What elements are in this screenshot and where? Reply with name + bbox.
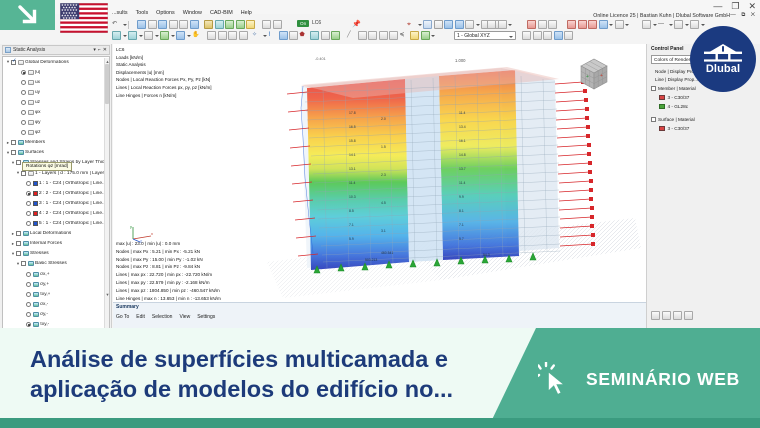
toolbar-row-1[interactable]: ↶ On (112, 19, 760, 30)
svg-text:8.5: 8.5 (349, 209, 354, 213)
layer-color-swatch (33, 201, 38, 206)
pin-icon[interactable]: 📌 (352, 20, 361, 29)
tree-row[interactable]: ▾Basic Stresses (3, 259, 109, 269)
scroll-up-arrow-icon[interactable]: ▲ (106, 59, 110, 64)
tree-row[interactable]: ▸Internal Forces (3, 239, 109, 249)
material-item-label: 3 - C30/37 (668, 126, 690, 131)
window-controls[interactable]: — ❐ ✕ (713, 1, 756, 11)
mesh-icon[interactable] (421, 31, 430, 40)
work-plane-yz-icon[interactable] (455, 20, 464, 29)
tree-row[interactable]: τxy,+ (3, 289, 109, 299)
status-menu-view[interactable]: View (179, 314, 190, 320)
new-line-icon[interactable]: ⌇ (268, 31, 277, 40)
result-values-icon[interactable] (236, 20, 245, 29)
menu-item-tools[interactable]: Tools (136, 10, 149, 16)
svg-text:2.3: 2.3 (381, 173, 386, 177)
webinar-banner: Análise de superfícies multicamada e apl… (0, 328, 760, 428)
tree-row[interactable]: ▸Members (3, 138, 109, 148)
results-on-off-icon[interactable] (215, 20, 224, 29)
tree-row[interactable]: |u| (3, 67, 109, 77)
work-plane-dropdown-icon[interactable] (476, 20, 480, 29)
sheet-icon (28, 130, 34, 135)
section-cut-icon[interactable] (615, 20, 624, 29)
rfem-application-window: — ❐ ✕ Online Licence 25 | Bastian Kuhn |… (0, 0, 760, 328)
legend-line: LC6 (116, 46, 212, 54)
result-table-icon[interactable] (246, 20, 255, 29)
tree-row[interactable]: σy,+ (3, 279, 109, 289)
member-material-item[interactable]: 4 - GL28c (659, 104, 688, 109)
doc-close-button[interactable]: ✕ (751, 12, 757, 18)
visibility-4-icon[interactable] (599, 20, 608, 29)
tree-row-label: Members (25, 140, 45, 145)
surf-icon (33, 312, 39, 317)
tree-row[interactable]: 5 : 1 - C24 | Orthotropic | Line... (3, 219, 109, 229)
tree-row-checkbox[interactable] (11, 60, 16, 65)
tree-row-label: Surfaces (25, 150, 44, 155)
load-case-next-icon[interactable] (273, 20, 282, 29)
summary-line: max |u| : 23.0 | min |u| : 0.0 mm (116, 240, 221, 248)
svg-text:14.1: 14.1 (349, 153, 356, 157)
surf-icon (18, 150, 24, 155)
visibility-dropdown-icon[interactable] (609, 20, 613, 29)
tree-row-checkbox[interactable] (16, 231, 21, 236)
svg-text:503.213: 503.213 (365, 258, 377, 262)
sheet-icon (28, 90, 34, 95)
navigator-close-button[interactable]: ✕ (103, 47, 107, 53)
surface-material-checkbox[interactable] (651, 117, 656, 122)
navigator-panel: Static Analysis ▾ ⌐ ✕ ▾Global Deformatio… (0, 44, 112, 328)
layer-color-swatch (33, 211, 38, 216)
tree-row-radio[interactable] (26, 201, 31, 206)
node-table-icon[interactable] (207, 31, 216, 40)
tree-rows-container: ▾Global Deformations|u|uxuyuzφxφyφz▸Memb… (3, 57, 109, 338)
view-orientation-cube[interactable]: + + (573, 54, 615, 94)
svg-text:1.5: 1.5 (381, 145, 386, 149)
tree-row-checkbox[interactable] (16, 241, 21, 246)
menu-item-window[interactable]: Window (183, 10, 202, 16)
surf-icon (33, 272, 39, 277)
tree-row-radio[interactable] (21, 90, 26, 95)
navigator-toggle-icon[interactable] (564, 31, 573, 40)
svg-text:-0.401: -0.401 (315, 57, 326, 61)
measure-icon[interactable] (487, 20, 496, 29)
new-load-icon[interactable] (331, 31, 340, 40)
layer-icon (28, 171, 34, 176)
tree-row-radio[interactable] (21, 110, 26, 115)
work-plane-settings-icon[interactable] (465, 20, 474, 29)
rotate-view-icon[interactable] (176, 31, 185, 40)
line-table-icon[interactable] (218, 31, 227, 40)
visibility-2-icon[interactable] (578, 20, 587, 29)
summary-line: Lines | max py : 22.579 | min py : -2.16… (116, 279, 221, 287)
delete-icon[interactable] (527, 20, 536, 29)
new-hinge-icon[interactable] (321, 31, 330, 40)
svg-text:17.8: 17.8 (349, 111, 356, 115)
select-dropdown-icon[interactable] (123, 31, 127, 40)
material-color-swatch (659, 104, 665, 109)
status-menu-goto[interactable]: Go To (116, 314, 129, 320)
undo-dropdown-icon[interactable] (123, 20, 127, 29)
line-display-properties-link[interactable]: Line | Display Prop... (655, 77, 698, 82)
banner-badge-text: SEMINÁRIO WEB (586, 369, 740, 390)
cp-filter-icon[interactable] (684, 311, 693, 320)
menubar[interactable]: ...sults Tools Options Window CAD-BIM He… (112, 8, 252, 18)
ortho-icon[interactable] (434, 20, 443, 29)
tree-row[interactable]: σx,- (3, 299, 109, 309)
undo-icon[interactable]: ↶ (112, 20, 121, 29)
surf-icon (33, 282, 39, 287)
svg-text:5.9: 5.9 (349, 237, 354, 241)
tree-row-checkbox[interactable] (16, 160, 21, 165)
legend-line: Displacements |u| [mm] (116, 69, 212, 77)
visibility-3-icon[interactable] (588, 20, 597, 29)
status-menu-settings[interactable]: Settings (197, 314, 215, 320)
tree-row-checkbox[interactable] (21, 171, 26, 176)
material-item-label: 4 - GL28c (668, 104, 689, 109)
dimension-icon[interactable] (498, 20, 507, 29)
status-bar-menu[interactable]: Go To Edit Selection View Settings (116, 314, 215, 320)
screenshot-root: — ❐ ✕ Online Licence 25 | Bastian Kuhn |… (0, 0, 760, 428)
sheet-icon (28, 80, 34, 85)
new-member-icon[interactable] (279, 31, 288, 40)
member-table-icon[interactable] (228, 31, 237, 40)
surf-icon (28, 261, 34, 266)
tree-scroll-thumb[interactable] (105, 64, 109, 104)
svg-text:7.1: 7.1 (349, 223, 354, 227)
toolbar-separator (128, 21, 129, 29)
tree-row[interactable]: 3 : 1 - C24 | Orthotropic | Line... (3, 198, 109, 208)
copy-icon[interactable] (538, 20, 547, 29)
menu-item-cad-bim[interactable]: CAD-BIM (210, 10, 233, 16)
surface-table-icon[interactable] (239, 31, 248, 40)
zoom-window-icon[interactable] (144, 31, 153, 40)
scroll-down-arrow-icon[interactable]: ▼ (106, 292, 110, 297)
new-support-icon[interactable] (310, 31, 319, 40)
toolbar-row-2[interactable]: ✋ ✧ ⌇ ⬟ ╱ (112, 30, 760, 41)
tree-row[interactable]: ▸Local Deformations (3, 229, 109, 239)
tree-row-label: uy (35, 90, 40, 95)
summary-line: Lines | max px : 22.720 | min px : -22.7… (116, 271, 221, 279)
save-model-icon[interactable] (158, 20, 167, 29)
tree-row[interactable]: uz (3, 97, 109, 107)
svg-text:15.8: 15.8 (349, 139, 356, 143)
svg-text:11.4: 11.4 (459, 181, 465, 185)
tree-row-radio[interactable] (26, 181, 31, 186)
show-all-icon[interactable] (160, 31, 169, 40)
tree-row-label: σy,+ (40, 282, 49, 287)
tree-row-checkbox[interactable] (16, 251, 21, 256)
dlubal-logo-badge: Dlubal (690, 26, 756, 92)
navigator-icon (5, 47, 11, 53)
tree-row-checkbox[interactable] (11, 140, 16, 145)
tree-row-label: Basic Stresses (35, 261, 67, 266)
tree-row-label: σx,+ (40, 272, 50, 277)
new-surface-icon[interactable] (289, 31, 298, 40)
viewport-scale-label: 1.000 (455, 58, 466, 63)
tree-row-radio[interactable] (21, 80, 26, 85)
tree-row-label: Local Deformations (30, 231, 71, 236)
tree-row[interactable]: ▾Global Deformations (3, 57, 109, 67)
menu-item-help[interactable]: Help (241, 10, 252, 16)
summary-line: Nodes | max Px : 5.21 | min Px : -5.21 k… (116, 248, 221, 256)
doc-minimize-button[interactable]: — (730, 12, 738, 18)
wireframe-icon[interactable]: — (658, 20, 667, 29)
svg-text:+: + (600, 73, 603, 79)
svg-text:11.4: 11.4 (349, 181, 355, 185)
tree-row-checkbox[interactable] (11, 150, 16, 155)
tree-row-radio[interactable] (26, 211, 31, 216)
load-case-prev-icon[interactable] (262, 20, 271, 29)
free-load-icon[interactable] (368, 31, 377, 40)
tree-row-radio[interactable] (21, 130, 26, 135)
render-dropdown-icon[interactable] (653, 20, 657, 29)
sheet-icon (28, 110, 34, 115)
tree-row-label: τxy,+ (40, 292, 50, 297)
tree-row-label: τxy,- (40, 322, 49, 327)
new-solid-icon[interactable]: ⬟ (300, 31, 309, 40)
imposed-deformation-icon[interactable] (379, 31, 388, 40)
model-info-icon[interactable] (522, 31, 531, 40)
cursor-click-icon (538, 362, 572, 396)
cp-display-icon[interactable] (662, 311, 671, 320)
tree-row-label: 5 : 1 - C24 | Orthotropic | Line... (39, 221, 106, 226)
svg-text:16.1: 16.1 (459, 139, 466, 143)
tree-row-radio[interactable] (26, 191, 31, 196)
svg-text:7.1: 7.1 (459, 223, 464, 227)
svg-text:14.8: 14.8 (459, 153, 466, 157)
print-view-icon[interactable] (690, 20, 699, 29)
tree-row-radio[interactable] (21, 120, 26, 125)
work-area: LC6 Loads [kN/m] Static Analysis Displac… (113, 44, 646, 328)
decor-green-block (0, 0, 55, 30)
tree-tooltip: Rotations φz [mrad] (22, 162, 72, 171)
tree-row-radio[interactable] (26, 282, 31, 287)
tree-row-label: σy,- (40, 312, 48, 317)
cp-factors-icon[interactable] (651, 311, 660, 320)
section-dropdown-icon[interactable] (625, 20, 629, 29)
zoom-dropdown-icon[interactable] (155, 31, 159, 40)
select-special-icon[interactable] (128, 31, 137, 40)
paste-icon[interactable] (548, 20, 557, 29)
tree-row[interactable]: uy (3, 87, 109, 97)
model-viewport[interactable]: 17.816.515.8 14.113.111.4 10.38.57.1 5.9… (263, 48, 643, 306)
tree-scrollbar[interactable]: ▲ ▼ (104, 58, 109, 337)
doc-restore-button[interactable]: ⧉ (741, 12, 747, 18)
tree-row-radio[interactable] (21, 70, 26, 75)
result-legend-text: LC6 Loads [kN/m] Static Analysis Displac… (116, 46, 212, 99)
work-plane-xy-icon[interactable] (444, 20, 453, 29)
select-special-dropdown-icon[interactable] (139, 31, 143, 40)
view-settings-icon[interactable] (674, 20, 683, 29)
status-bar-title: Summary (116, 304, 139, 310)
document-window-controls[interactable]: — ⧉ ✕ (730, 12, 757, 19)
tree-row-radio[interactable] (26, 302, 31, 307)
grid-icon[interactable] (423, 20, 432, 29)
menu-item-options[interactable]: Options (156, 10, 175, 16)
print-icon[interactable] (179, 20, 188, 29)
wireframe-dropdown-icon[interactable] (669, 20, 673, 29)
restore-button[interactable]: ❐ (731, 1, 739, 11)
select-objects-icon[interactable] (112, 31, 121, 40)
open-model-icon[interactable] (148, 20, 157, 29)
svg-text:10.3: 10.3 (349, 195, 356, 199)
tree-row-label: 2 : 2 - C24 | Orthotropic | Line... (39, 191, 106, 196)
close-button[interactable]: ✕ (748, 1, 756, 11)
navigator-pin-button[interactable]: ⌐ (98, 47, 101, 53)
navigator-collapse-button[interactable]: ▾ (93, 47, 96, 53)
summary-line: Lines | max pz : 1804.850 | min pz : -46… (116, 287, 221, 295)
surface-material-label: Surface | Material (658, 117, 695, 122)
tree-row-label: 4 : 2 - C24 | Orthotropic | Line... (39, 211, 106, 216)
svg-text:13.1: 13.1 (349, 167, 356, 171)
tree-row-label: 1 - Layers | d : 175.0 mm | Layers: 5 (35, 171, 109, 176)
sheet-icon (28, 70, 34, 75)
surf-icon (23, 241, 29, 246)
surf-icon (23, 251, 29, 256)
navigator-title: Static Analysis (13, 47, 91, 53)
status-menu-selection[interactable]: Selection (152, 314, 173, 320)
snap-settings-icon[interactable]: ⌖ (407, 20, 416, 29)
tree-row-label: φz (35, 130, 41, 135)
layer-color-swatch (33, 181, 38, 186)
surf-icon (33, 322, 39, 327)
tree-row[interactable]: ▾Stresses (3, 249, 109, 259)
dimension-dropdown-icon[interactable] (508, 20, 512, 29)
surf-icon (18, 140, 24, 145)
control-panel-toggle-icon[interactable] (554, 31, 563, 40)
new-node-icon[interactable]: ✧ (252, 31, 261, 40)
temperature-load-icon[interactable] (389, 31, 398, 40)
maxmin-summary-text: max |u| : 23.0 | min |u| : 0.0 mm Nodes … (116, 240, 221, 302)
tree-row[interactable]: σx,+ (3, 269, 109, 279)
svg-text:13.7: 13.7 (459, 167, 466, 171)
member-material-checkbox[interactable] (651, 86, 656, 91)
tree-row-label: Stresses (30, 251, 49, 256)
banner-badge: SEMINÁRIO WEB (538, 362, 740, 396)
print-preview-icon[interactable] (169, 20, 178, 29)
tree-row[interactable]: 4 : 2 - C24 | Orthotropic | Line... (3, 208, 109, 218)
menu-item-results[interactable]: ...sults (112, 10, 128, 16)
tree-row[interactable]: 1 : 1 - C24 | Orthotropic | Line... (3, 178, 109, 188)
svg-text:11.4: 11.4 (459, 111, 465, 115)
coordinate-system-combo[interactable]: 1 - Global XYZ (454, 31, 516, 40)
tree-row-label: φy (35, 120, 41, 125)
settings-gear-icon[interactable] (543, 31, 552, 40)
nodal-release-icon[interactable]: ≼ (400, 31, 409, 40)
results-navigator-tree[interactable]: ▾Global Deformations|u|uxuyuzφxφyφz▸Memb… (2, 56, 110, 338)
printout-report-icon[interactable] (190, 20, 199, 29)
rib-icon[interactable] (410, 31, 419, 40)
svg-text:★★★★★: ★★★★★ (62, 16, 76, 20)
line-load-icon[interactable]: ╱ (347, 31, 356, 40)
minimize-button[interactable]: — (713, 1, 722, 11)
new-node-dropdown-icon[interactable] (263, 31, 267, 40)
result-diagram-icon[interactable] (225, 20, 234, 29)
legend-line: Line Hinges | Forces n [kN/m] (116, 92, 212, 100)
status-menu-edit[interactable]: Edit (136, 314, 145, 320)
svg-text:13.4: 13.4 (459, 125, 466, 129)
svg-text:y: y (130, 225, 132, 229)
tree-row[interactable]: φx (3, 107, 109, 117)
snap-dropdown-icon[interactable] (418, 20, 422, 29)
control-panel-title: Control Panel (651, 46, 684, 52)
material-color-swatch (659, 126, 665, 131)
tree-row-radio[interactable] (26, 322, 31, 327)
surface-material-group[interactable]: Surface | Material (651, 117, 695, 122)
member-material-group[interactable]: Member | Material (651, 86, 696, 91)
tree-row[interactable]: σy,- (3, 309, 109, 319)
svg-text:3.1: 3.1 (381, 229, 386, 233)
printout-icon[interactable] (533, 31, 542, 40)
pan-view-icon[interactable]: ✋ (192, 31, 201, 40)
tree-row[interactable]: ux (3, 77, 109, 87)
navigator-header[interactable]: Static Analysis ▾ ⌐ ✕ (2, 45, 110, 55)
member-material-label: Member | Material (658, 86, 696, 91)
tree-row-label: Internal Forces (30, 241, 62, 246)
visibility-1-icon[interactable] (567, 20, 576, 29)
tree-row-label: σx,- (40, 302, 48, 307)
dlubal-wordmark: Dlubal (706, 63, 740, 75)
rotate-dropdown-icon[interactable] (187, 31, 191, 40)
tree-row[interactable]: ▾Surfaces (3, 148, 109, 158)
member-material-item[interactable]: 3 - C30/37 (659, 95, 689, 100)
tree-row-radio[interactable] (21, 100, 26, 105)
tree-row[interactable]: 2 : 2 - C24 | Orthotropic | Line... (3, 188, 109, 198)
banner-bottom-bar (0, 418, 760, 428)
print-view-dropdown-icon[interactable] (701, 20, 705, 29)
svg-text:460.541: 460.541 (381, 251, 393, 255)
new-model-icon[interactable] (137, 20, 146, 29)
svg-text:9.9: 9.9 (459, 195, 464, 199)
mesh-dropdown-icon[interactable] (431, 31, 435, 40)
view-settings-dropdown-icon[interactable] (685, 20, 689, 29)
status-bar: Summary Go To Edit Selection View Settin… (113, 302, 646, 328)
tree-row[interactable]: φy (3, 118, 109, 128)
calculate-icon[interactable] (204, 20, 213, 29)
surface-material-item[interactable]: 3 - C30/37 (659, 126, 689, 131)
render-mode-icon[interactable] (642, 20, 651, 29)
tree-row-label: Global Deformations (25, 60, 69, 65)
material-item-label: 3 - C30/37 (668, 95, 690, 100)
control-panel-toolbar[interactable] (651, 311, 693, 320)
tree-row[interactable]: φz (3, 128, 109, 138)
tree-row-label: uz (35, 100, 40, 105)
cp-colors-icon[interactable] (673, 311, 682, 320)
load-case-state-chip: On (297, 20, 309, 27)
svg-text:5.7: 5.7 (459, 237, 464, 241)
show-all-dropdown-icon[interactable] (171, 31, 175, 40)
legend-line: Nodes | Local Reaction Forces Px, Py, Pz… (116, 76, 212, 84)
tree-row-checkbox[interactable] (21, 261, 26, 266)
legend-line: Loads [kN/m] (116, 54, 212, 62)
summary-line: Nodes | max Pz : 8.81 | min Pz : -9.84 k… (116, 263, 221, 271)
surface-load-icon[interactable] (358, 31, 367, 40)
dlubal-mark-icon (703, 43, 743, 62)
svg-text:4.5: 4.5 (381, 201, 386, 205)
material-color-swatch (659, 95, 665, 100)
svg-text:2.0: 2.0 (381, 117, 386, 121)
tree-row-radio[interactable] (26, 312, 31, 317)
banner-title: Análise de superfícies multicamada e apl… (30, 344, 500, 404)
svg-text:x: x (151, 231, 153, 236)
legend-line: Lines | Local Reaction Forces px, py, pz… (116, 84, 212, 92)
tree-row-radio[interactable] (26, 221, 31, 226)
tree-row-radio[interactable] (26, 272, 31, 277)
tree-row-label: φx (35, 110, 41, 115)
layer-color-swatch (33, 191, 38, 196)
tree-row-radio[interactable] (26, 292, 31, 297)
sheet-icon (18, 60, 24, 65)
